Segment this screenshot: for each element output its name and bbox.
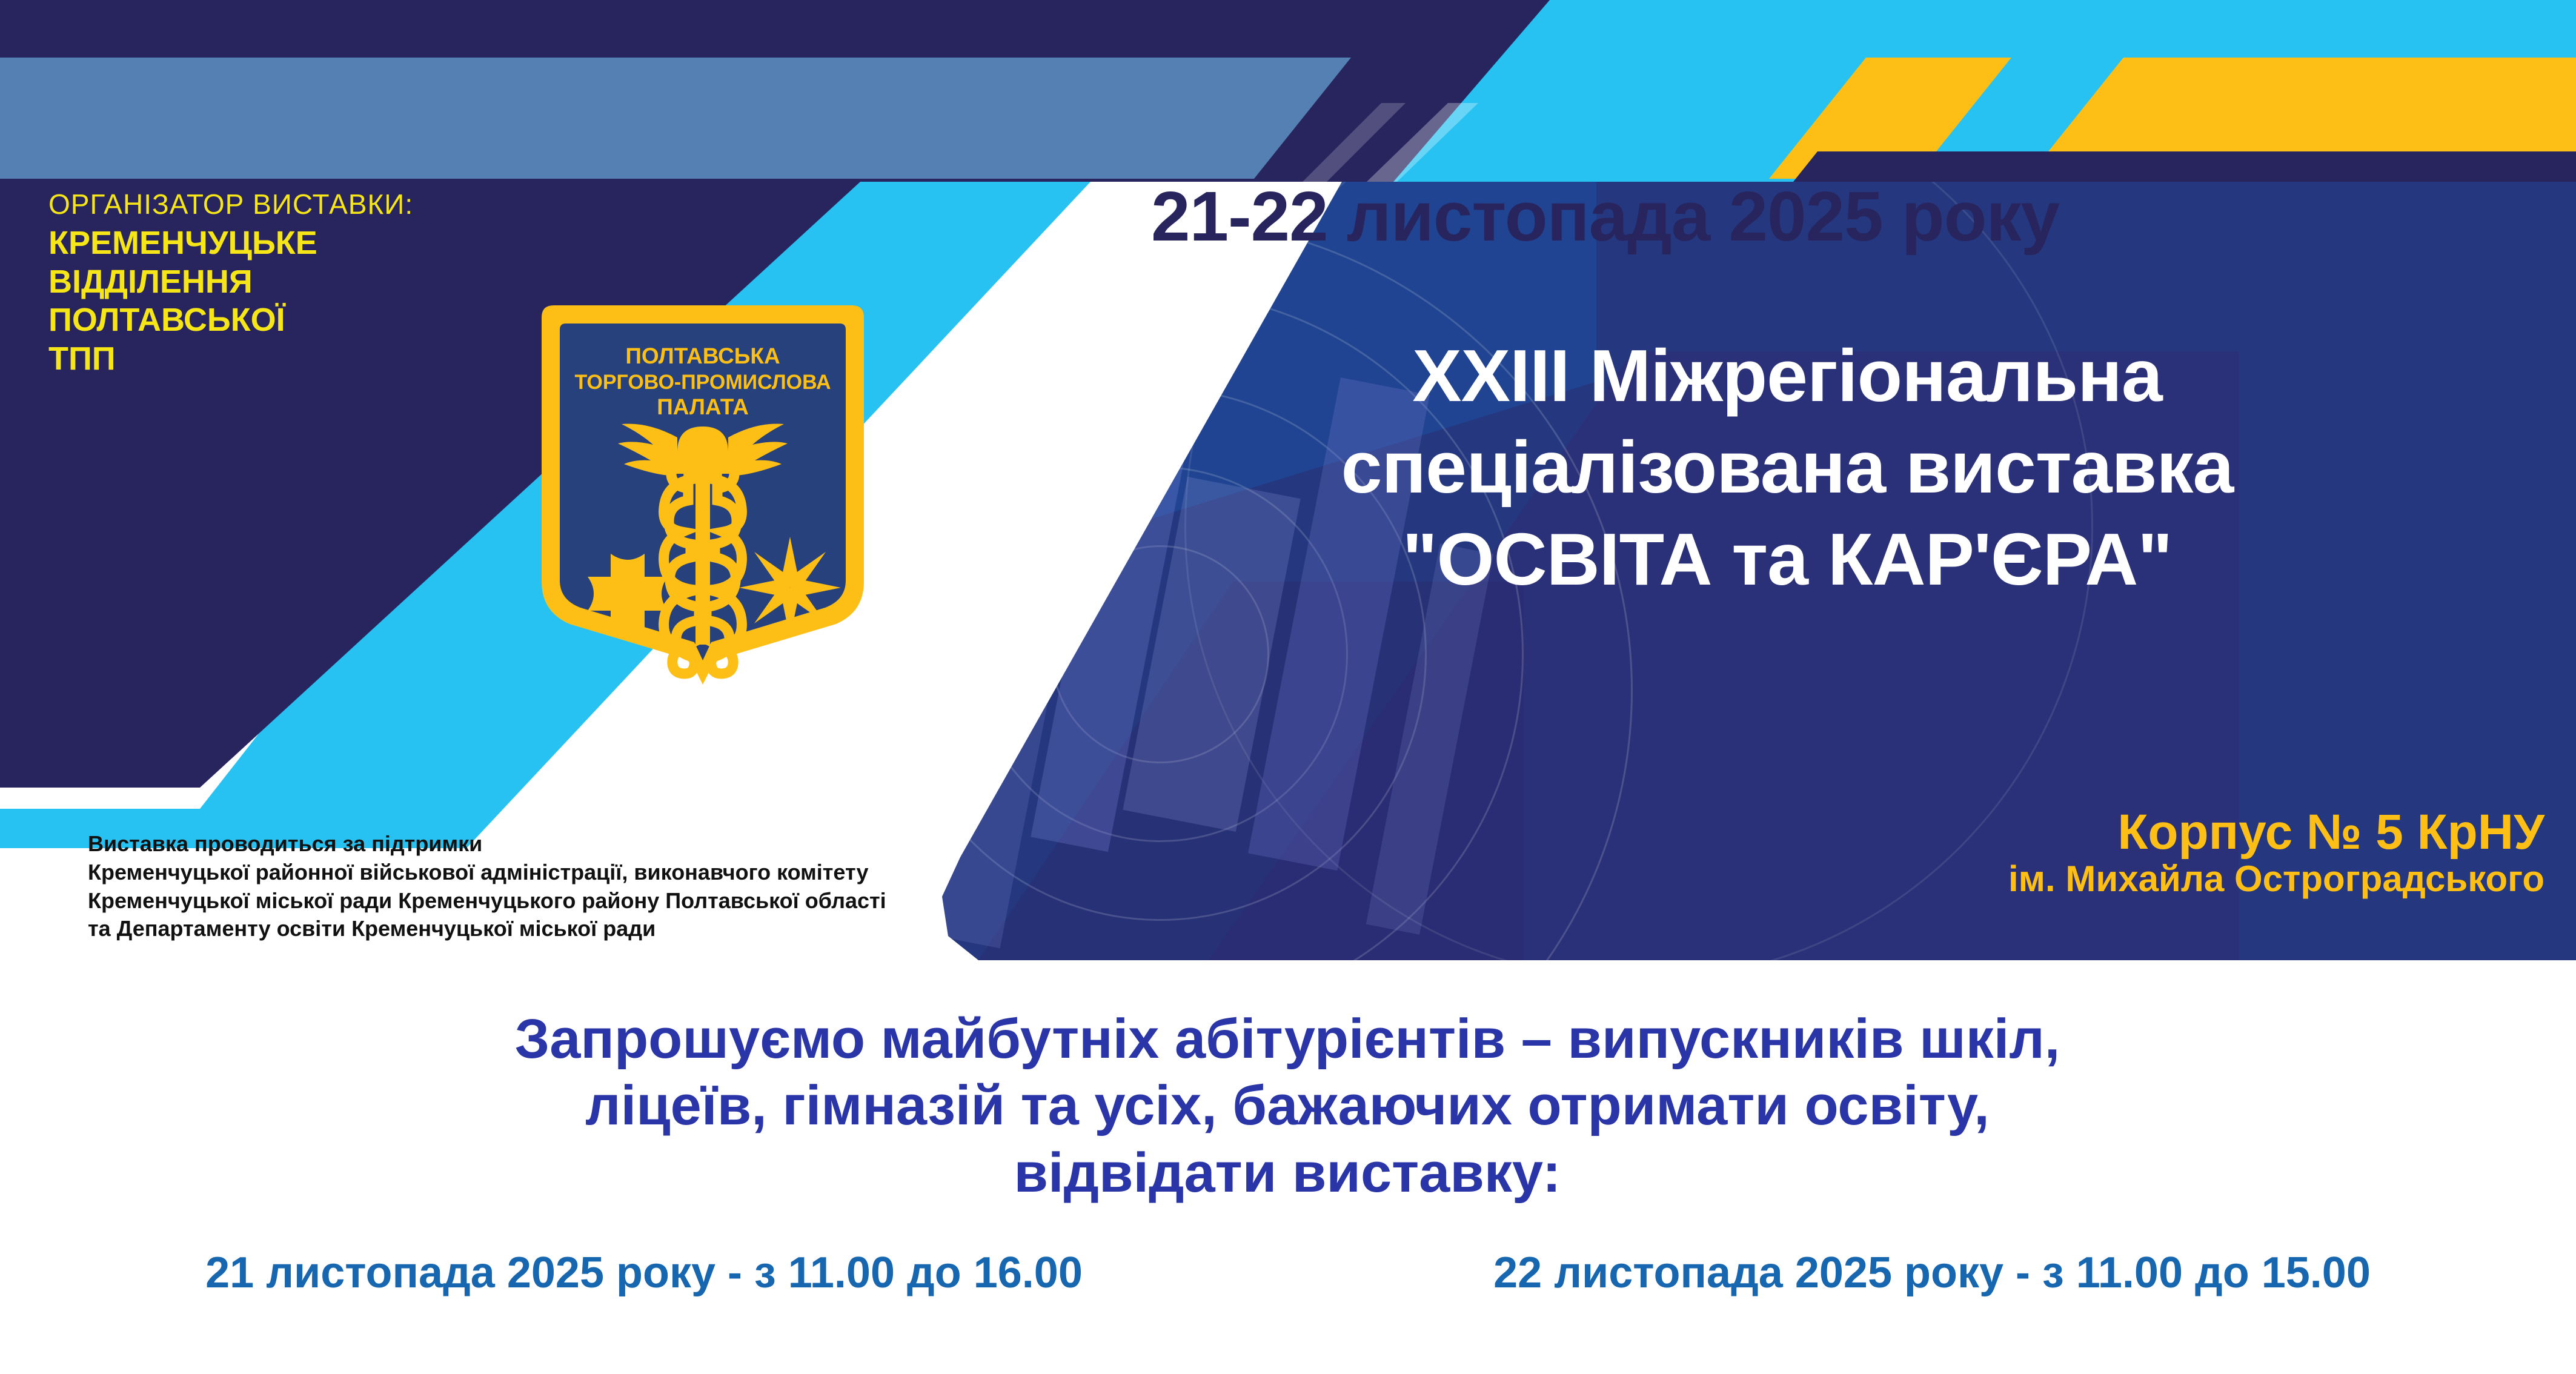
support-note: Виставка проводиться за підтримки Кремен… [88, 830, 1300, 943]
logo-title-line-1: ПОЛТАВСЬКА [625, 343, 780, 368]
invitation-line-3: відвідати виставку: [73, 1140, 2502, 1206]
venue-line-2: ім. Михайла Остроградського [1515, 860, 2544, 899]
support-line-4: та Департаменту освіти Кременчуцької міс… [88, 915, 1300, 943]
header-steel-blue-bar [0, 58, 1351, 179]
schedule-row: 21 листопада 2025 року - з 11.00 до 16.0… [0, 1248, 2576, 1298]
title-line-1: XXIII Міжрегіональна [1060, 330, 2514, 422]
organizer-name-line-1: КРЕМЕНЧУЦЬКЕ [48, 224, 521, 263]
title-line-2: спеціалізована виставка [1060, 422, 2514, 513]
header-dates: 21-22 листопада 2025 року [1151, 176, 2514, 257]
eight-point-star-icon [739, 537, 841, 639]
venue-line-1: Корпус № 5 КрНУ [1515, 806, 2544, 860]
exhibition-banner: ОРГАНІЗАТОР ВИСТАВКИ: КРЕМЕНЧУЦЬКЕ ВІДДІ… [0, 0, 2576, 1374]
schedule-day-1: 21 листопада 2025 року - з 11.00 до 16.0… [205, 1248, 1083, 1298]
invitation-line-2: ліцеїв, гімназій та усіх, бажаючих отрим… [73, 1072, 2502, 1139]
venue-info: Корпус № 5 КрНУ ім. Михайла Остроградськ… [1515, 806, 2544, 898]
organizer-label: ОРГАНІЗАТОР ВИСТАВКИ: [48, 188, 594, 221]
invitation-line-1: Запрошуємо майбутніх абітурієнтів – випу… [73, 1006, 2502, 1072]
support-line-3: Кременчуцької міської ради Кременчуцьког… [88, 887, 1300, 915]
support-line-2: Кременчуцької районної військової адміні… [88, 858, 1300, 887]
logo-title-line-3: ПАЛАТА [657, 394, 749, 419]
exhibition-title: XXIII Міжрегіональна спеціалізована вист… [1060, 330, 2514, 605]
organizer-name: КРЕМЕНЧУЦЬКЕ ВІДДІЛЕННЯ ПОЛТАВСЬКОЇ ТПП [48, 224, 521, 379]
invitation-text: Запрошуємо майбутніх абітурієнтів – випу… [73, 1006, 2502, 1206]
chamber-logo: ПОЛТАВСЬКА ТОРГОВО-ПРОМИСЛОВА ПАЛАТА [533, 297, 872, 715]
organizer-name-line-2: ВІДДІЛЕННЯ [48, 263, 521, 302]
organizer-name-line-3: ПОЛТАВСЬКОЇ [48, 301, 521, 340]
schedule-day-2: 22 листопада 2025 року - з 11.00 до 15.0… [1493, 1248, 2371, 1298]
logo-title-line-2: ТОРГОВО-ПРОМИСЛОВА [574, 371, 831, 394]
support-line-1: Виставка проводиться за підтримки [88, 830, 1300, 858]
title-line-3: "ОСВІТА та КАР'ЄРА" [1060, 514, 2514, 605]
organizer-name-line-4: ТПП [48, 340, 521, 379]
